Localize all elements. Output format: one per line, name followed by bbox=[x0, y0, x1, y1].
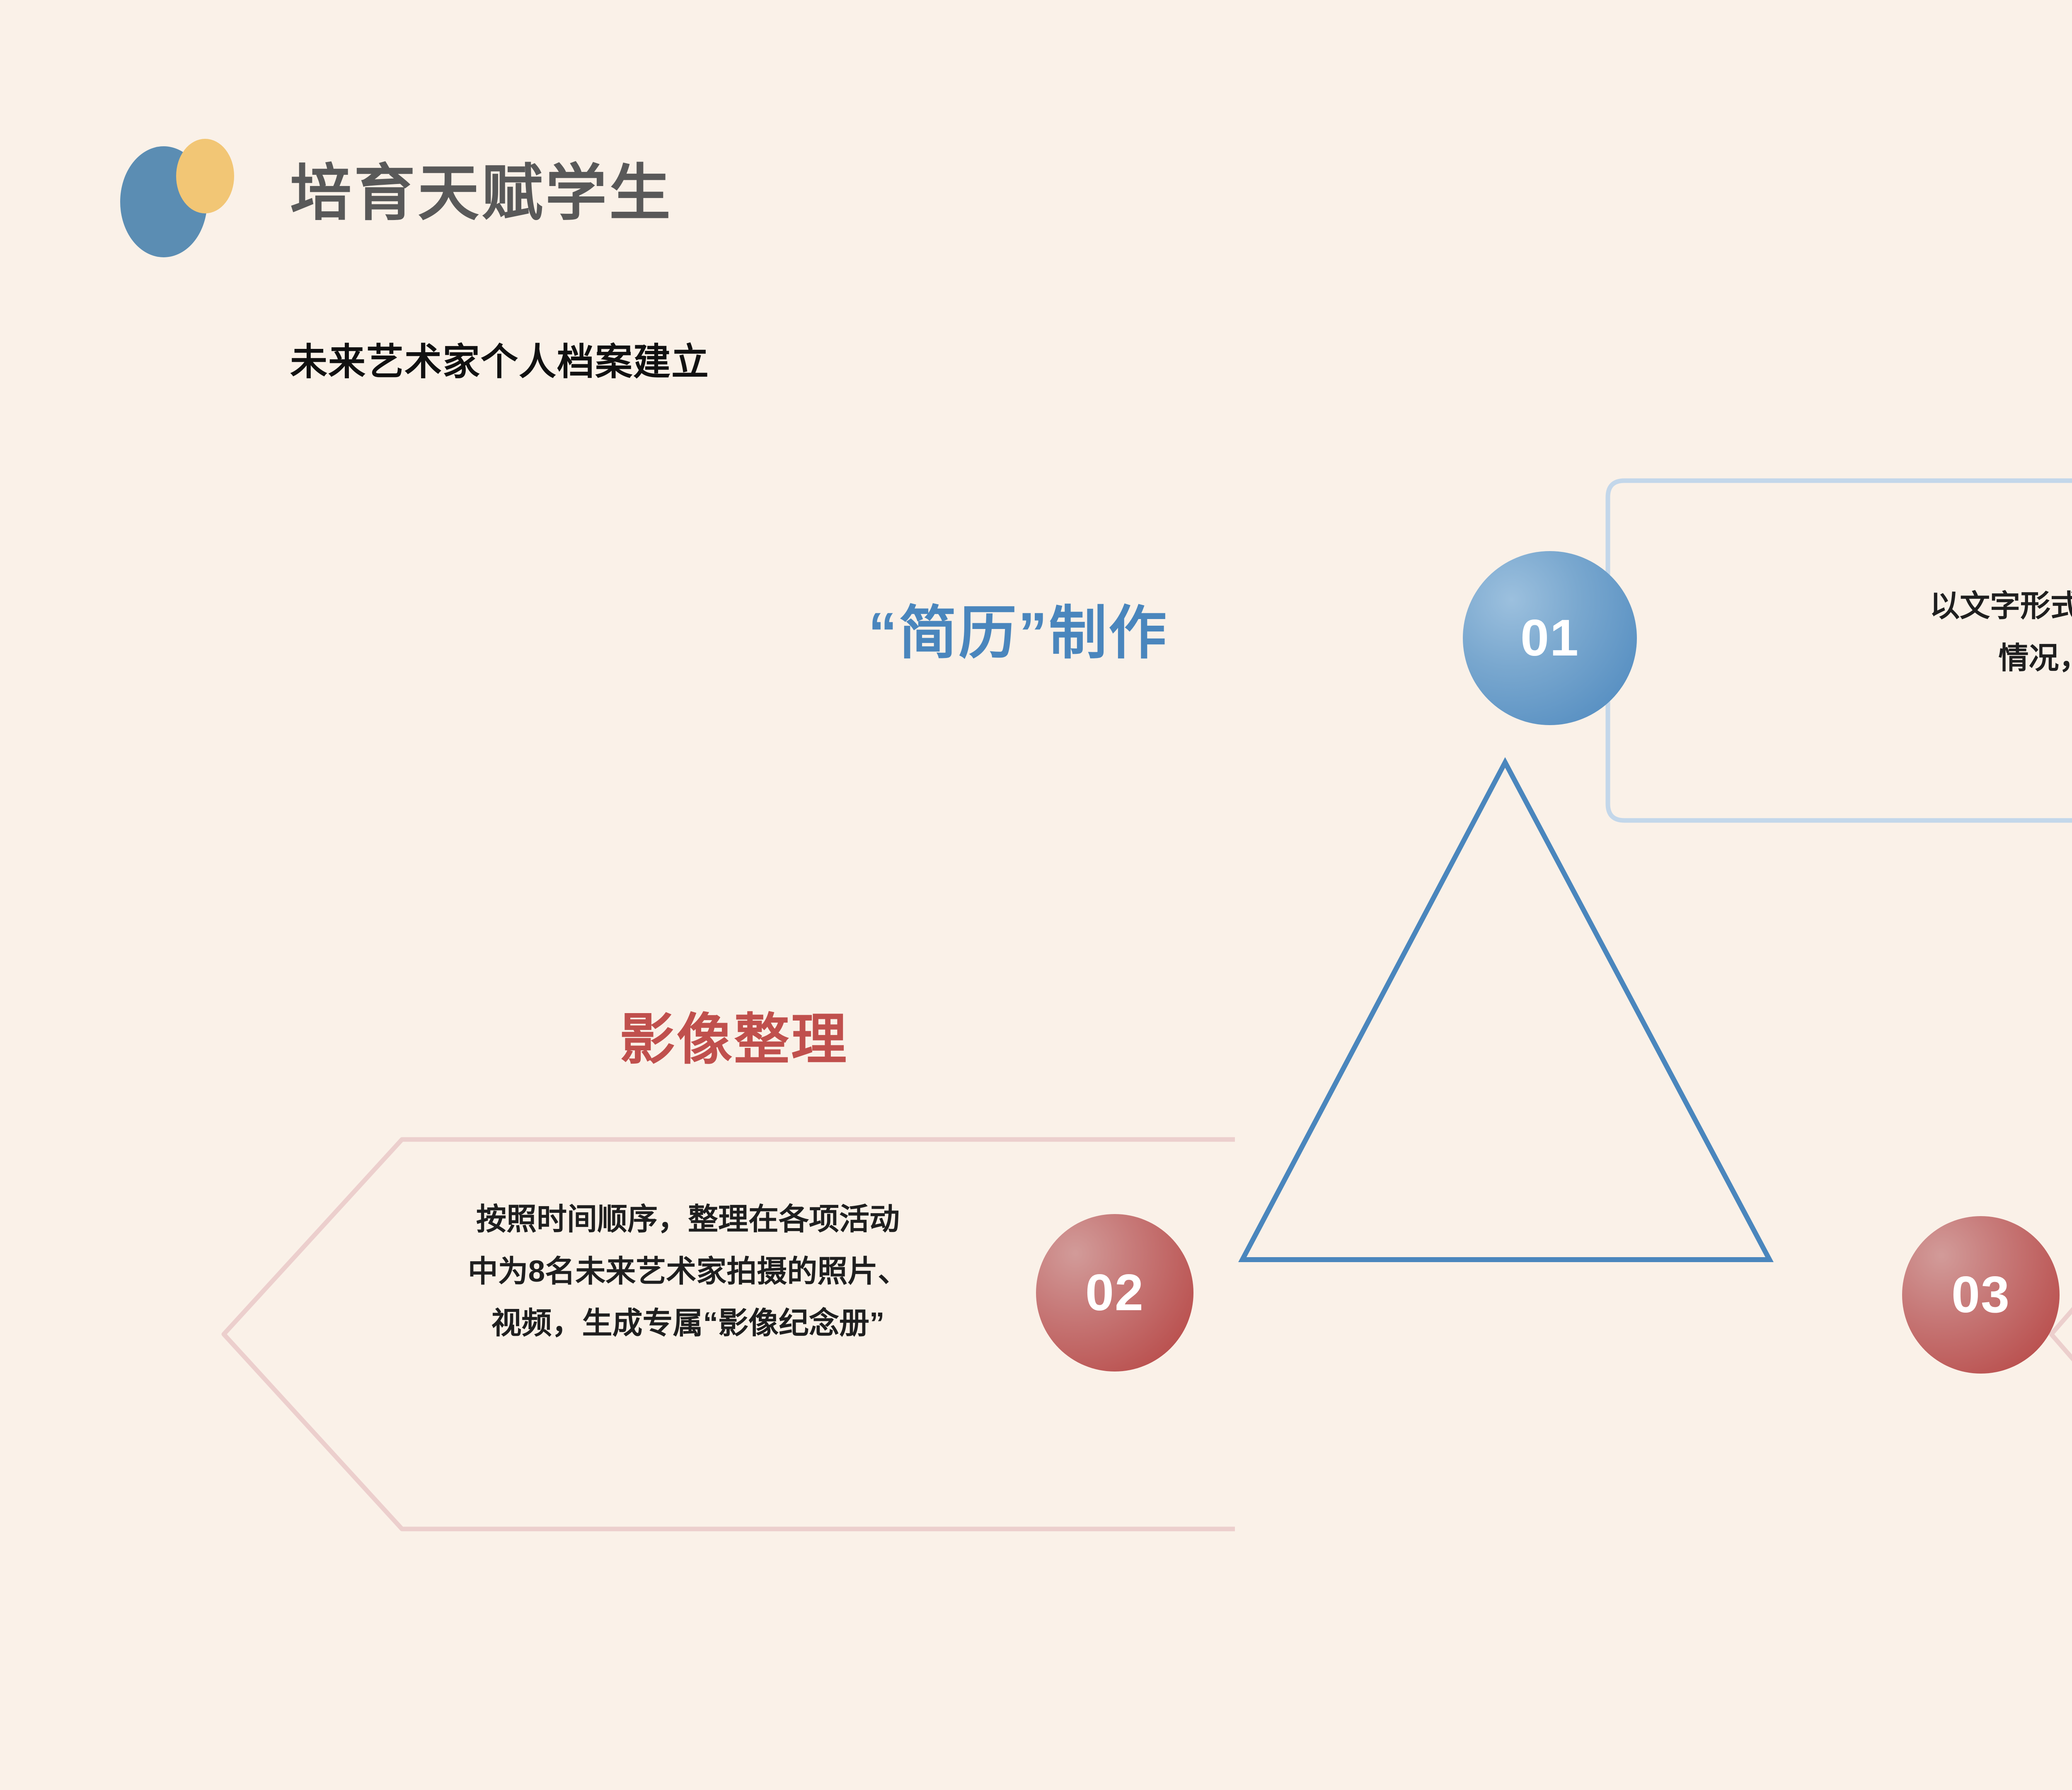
step-01-body-text: 以文字形式整理8名未来艺术家年度活动参与 情况，为每位学生制作专属”简历“ bbox=[1753, 580, 2072, 684]
page-title: 培育天赋学生 bbox=[290, 143, 673, 232]
step-03-number-badge: 03 bbox=[1902, 1216, 2060, 1374]
yellow-ellipse-shape bbox=[176, 139, 234, 213]
section-subtitle: 未来艺术家个人档案建立 bbox=[290, 331, 709, 385]
body-line: 中为8名未来艺术家拍摄的照片、 bbox=[315, 1246, 1061, 1298]
step-02-body-text: 按照时间顺序，整理在各项活动 中为8名未来艺术家拍摄的照片、 视频，生成专属“影… bbox=[315, 1193, 1061, 1350]
body-line: 按照时间顺序，整理在各项活动 bbox=[315, 1193, 1061, 1246]
step-01-number-badge: 01 bbox=[1463, 551, 1637, 725]
body-line: 情况，为每位学生制作专属”简历“ bbox=[1753, 632, 2072, 685]
brand-mark-icon bbox=[120, 139, 244, 263]
step-02-heading: 影像整理 bbox=[620, 994, 848, 1075]
slide-canvas: 培育天赋学生 未来艺术家个人档案建立 廣東公益恤孤助學促進會 Orphan Ed… bbox=[0, 0, 2072, 1790]
body-line: 视频，生成专属“影像纪念册” bbox=[315, 1297, 1061, 1350]
step-02-number-badge: 02 bbox=[1036, 1214, 1193, 1372]
body-line: 以文字形式整理8名未来艺术家年度活动参与 bbox=[1753, 580, 2072, 632]
step-01-heading: “简历”制作 bbox=[868, 586, 1168, 670]
